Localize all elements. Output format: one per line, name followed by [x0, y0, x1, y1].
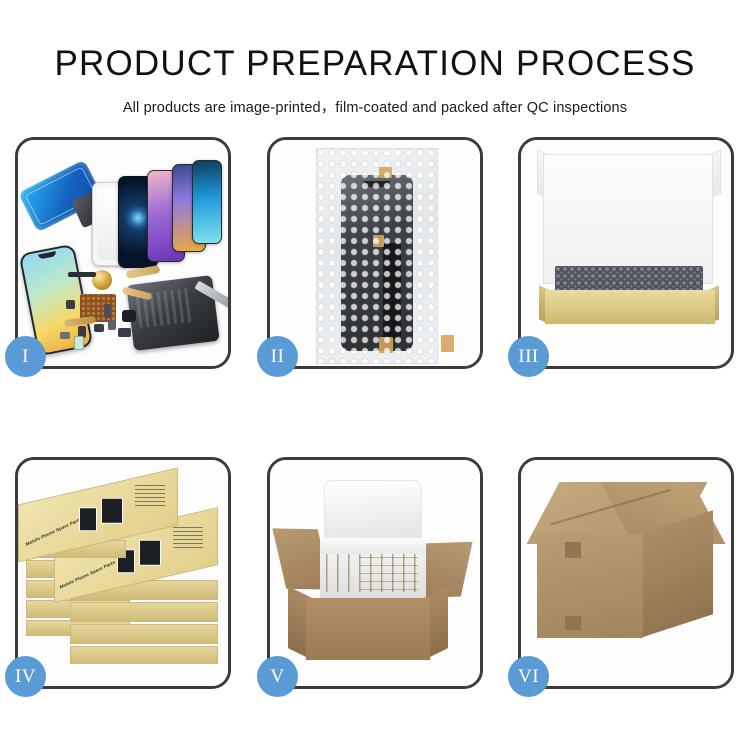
- camera-module-graphic: [122, 310, 136, 322]
- yellow-box-front: [545, 290, 715, 324]
- box-spec-lines: [173, 527, 203, 549]
- earpiece-part-graphic: [68, 272, 96, 277]
- stacked-box-side: [70, 646, 218, 664]
- header: PRODUCT PREPARATION PROCESS All products…: [0, 0, 750, 117]
- box-label-text: Mobile Phone Spare Parts: [25, 517, 81, 547]
- process-step-4: Mobile Phone Spare Parts Mobile Phone Sp…: [15, 457, 231, 689]
- process-step-3: III: [518, 137, 734, 369]
- step-badge-3: III: [508, 336, 549, 377]
- stacked-box-side: [70, 602, 218, 622]
- page-subtitle: All products are image-printed，film-coat…: [0, 81, 750, 117]
- box-spec-lines: [135, 485, 165, 507]
- step-2-image: [270, 140, 480, 366]
- carton-tape-patch: [565, 542, 581, 558]
- carton-front-face: [537, 534, 643, 638]
- step-badge-1: I: [5, 336, 46, 377]
- page-title: PRODUCT PREPARATION PROCESS: [0, 0, 750, 81]
- process-step-5: V: [267, 457, 483, 689]
- step-5-image: [270, 460, 480, 686]
- screen-fan-graphic: [92, 160, 222, 272]
- process-step-6: VI: [518, 457, 734, 689]
- small-part-graphic: [94, 324, 104, 332]
- step-badge-4: IV: [5, 656, 46, 697]
- box-screen-image: [79, 507, 97, 531]
- box-screen-image: [139, 540, 161, 566]
- step-1-image: [18, 140, 228, 366]
- carton-front: [306, 598, 430, 660]
- phone-screen-graphic: [192, 160, 222, 244]
- process-step-1: I: [15, 137, 231, 369]
- product-preparation-infographic: PRODUCT PREPARATION PROCESS All products…: [0, 0, 750, 750]
- stacked-box-side: [70, 624, 218, 644]
- box-screen-image: [101, 498, 123, 524]
- carton-tape-patch: [565, 616, 581, 630]
- step-4-image: Mobile Phone Spare Parts Mobile Phone Sp…: [18, 460, 228, 686]
- step-6-image: [521, 460, 731, 686]
- small-part-graphic: [108, 320, 116, 330]
- step-badge-5: V: [257, 656, 298, 697]
- process-step-grid: I II: [15, 137, 735, 674]
- small-part-graphic: [60, 332, 70, 339]
- bubble-wrap-bag-graphic: [316, 148, 438, 364]
- foam-cooler-lid: [324, 480, 422, 546]
- process-step-2: II: [267, 137, 483, 369]
- carton-side-face: [641, 510, 713, 637]
- small-part-graphic: [118, 328, 131, 337]
- yellow-boxes-inside: [360, 556, 418, 590]
- small-part-graphic: [104, 304, 111, 318]
- tape-piece-graphic: [441, 335, 454, 352]
- step-badge-6: VI: [508, 656, 549, 697]
- step-badge-2: II: [257, 336, 298, 377]
- bubble-texture-overlay: [317, 149, 437, 363]
- foam-cooler-rim: [320, 538, 426, 554]
- box-label-text: Mobile Phone Spare Parts: [59, 560, 115, 590]
- sim-tray-graphic: [74, 336, 84, 350]
- step-3-image: [521, 140, 731, 366]
- box-lid-graphic: [543, 154, 713, 284]
- small-part-graphic: [66, 300, 75, 309]
